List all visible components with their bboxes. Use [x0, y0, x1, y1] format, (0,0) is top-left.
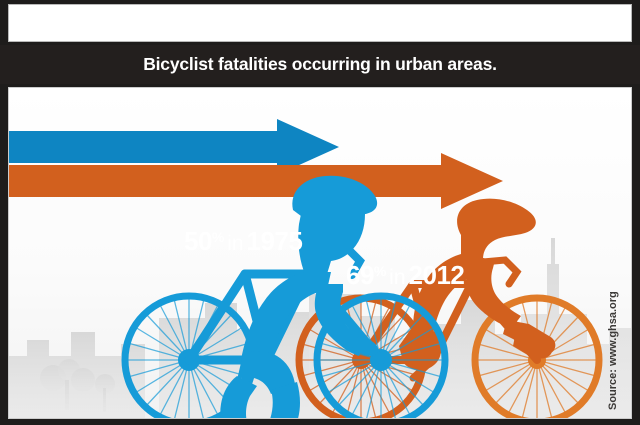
top-white-strip — [8, 4, 632, 42]
infographic-root: Bicyclist fatalities occurring in urban … — [0, 0, 640, 425]
chart-panel: 50%in1975 69%in2012 Source: www.ghsa.org — [8, 87, 632, 419]
title-band: Bicyclist fatalities occurring in urban … — [0, 45, 640, 84]
page-title: Bicyclist fatalities occurring in urban … — [143, 54, 497, 75]
source-credit: Source: www.ghsa.org — [607, 291, 619, 410]
infographic-artwork — [9, 88, 631, 418]
chart-stage: 50%in1975 69%in2012 Source: www.ghsa.org — [9, 88, 631, 418]
source-credit-anchor: Source: www.ghsa.org — [611, 270, 627, 410]
